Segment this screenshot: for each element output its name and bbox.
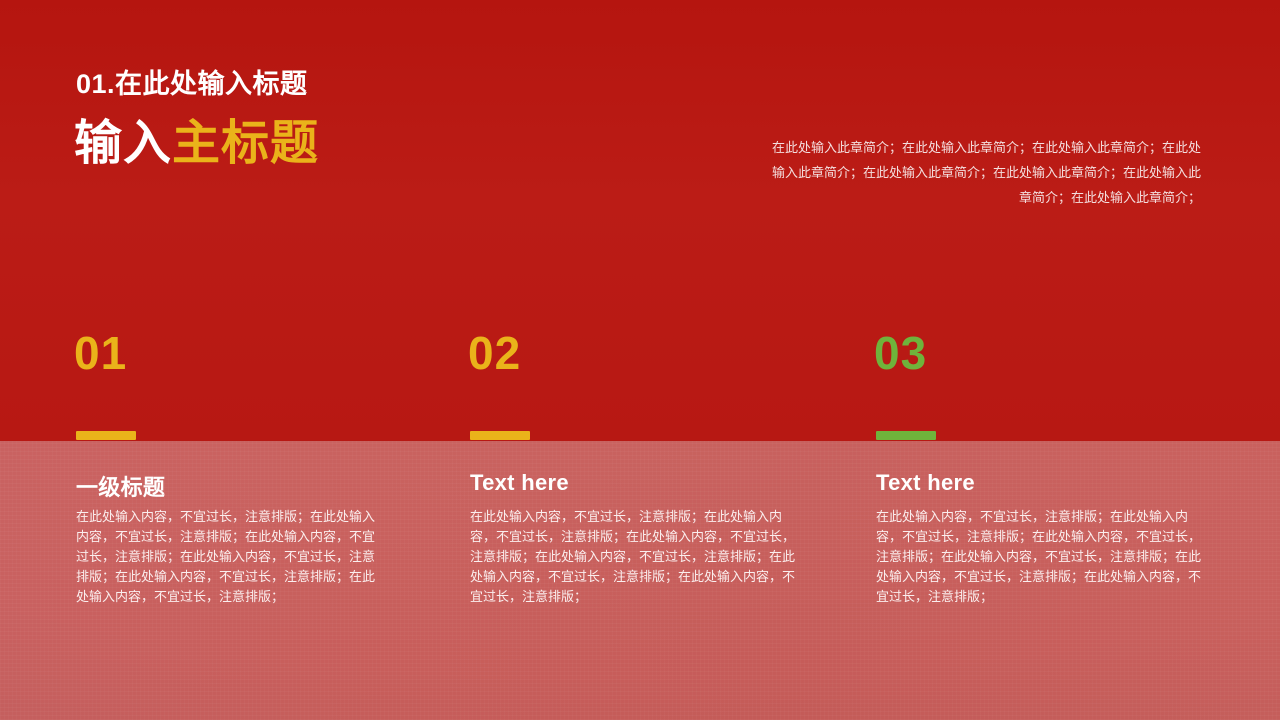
section-intro-paragraph: 在此处输入此章简介；在此处输入此章简介；在此处输入此章简介；在此处输入此章简介；… [768,136,1201,211]
column-number-03: 03 [874,330,1214,382]
column-body-02: 在此处输入内容，不宜过长，注意排版；在此处输入内容，不宜过长，注意排版；在此处输… [470,508,798,608]
column-number-01: 01 [74,330,414,382]
section-eyebrow-title: 01.在此处输入标题 [76,62,308,101]
content-column-01: 01 一级标题 在此处输入内容，不宜过长，注意排版；在此处输入内容，不宜过长，注… [74,330,414,382]
column-rule-01 [76,431,136,440]
slide-canvas: 01.在此处输入标题 输入主标题 在此处输入此章简介；在此处输入此章简介；在此处… [0,0,1280,720]
page-title: 输入主标题 [74,118,319,171]
page-title-primary: 输入 [74,117,172,170]
column-rule-03 [876,431,936,440]
column-number-02: 02 [468,330,808,382]
column-heading-03: Text here [876,470,975,496]
column-heading-01: 一级标题 [76,470,165,502]
column-heading-02: Text here [470,470,569,496]
column-body-01: 在此处输入内容，不宜过长，注意排版；在此处输入内容，不宜过长，注意排版；在此处输… [76,508,381,608]
column-rule-02 [470,431,530,440]
content-column-03: 03 Text here 在此处输入内容，不宜过长，注意排版；在此处输入内容，不… [874,330,1214,382]
page-title-accent: 主标题 [172,117,319,170]
column-body-03: 在此处输入内容，不宜过长，注意排版；在此处输入内容，不宜过长，注意排版；在此处输… [876,508,1210,608]
content-column-02: 02 Text here 在此处输入内容，不宜过长，注意排版；在此处输入内容，不… [468,330,808,382]
